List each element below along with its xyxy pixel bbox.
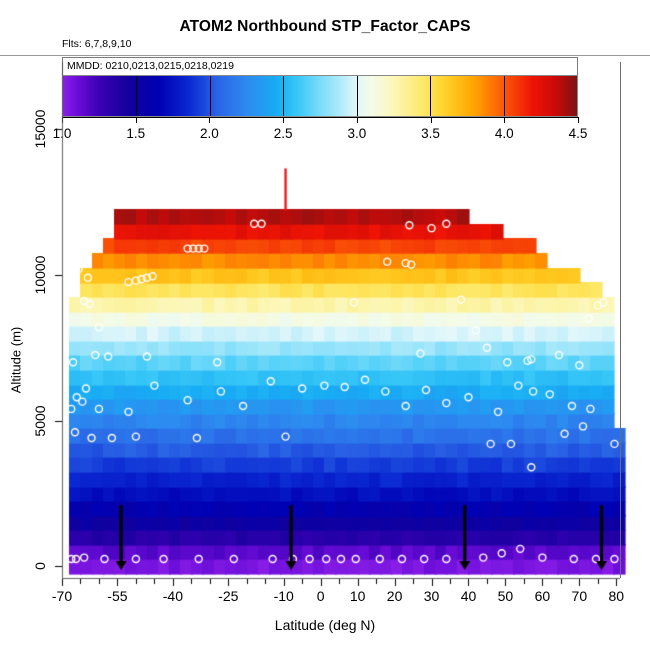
x-tick-label: 10 <box>350 588 366 604</box>
x-tick-label: 70 <box>572 588 588 604</box>
y-axis-title: Altitude (m) <box>9 327 24 393</box>
x-tick-label: -25 <box>218 588 238 604</box>
x-tick-label: 80 <box>609 588 625 604</box>
y-tick-label: 5000 <box>32 405 48 436</box>
x-tick-label: 0 <box>317 588 325 604</box>
x-tick-label: -55 <box>107 588 127 604</box>
y-tick-label: 0 <box>32 562 48 570</box>
x-tick-label: 30 <box>424 588 440 604</box>
x-tick-label: 40 <box>461 588 477 604</box>
heatmap-plot-area <box>0 0 650 650</box>
x-tick-label: 50 <box>498 588 514 604</box>
y-tick-label: 10000 <box>32 255 48 294</box>
x-tick-label: -40 <box>163 588 183 604</box>
x-axis-title: Latitude (deg N) <box>0 617 650 633</box>
x-tick-label: -10 <box>274 588 294 604</box>
plot-frame-right <box>620 62 621 578</box>
x-tick-label: 60 <box>535 588 551 604</box>
y-tick-label: 15000 <box>32 110 48 149</box>
x-tick-label: 20 <box>387 588 403 604</box>
x-tick-label: -70 <box>52 588 72 604</box>
